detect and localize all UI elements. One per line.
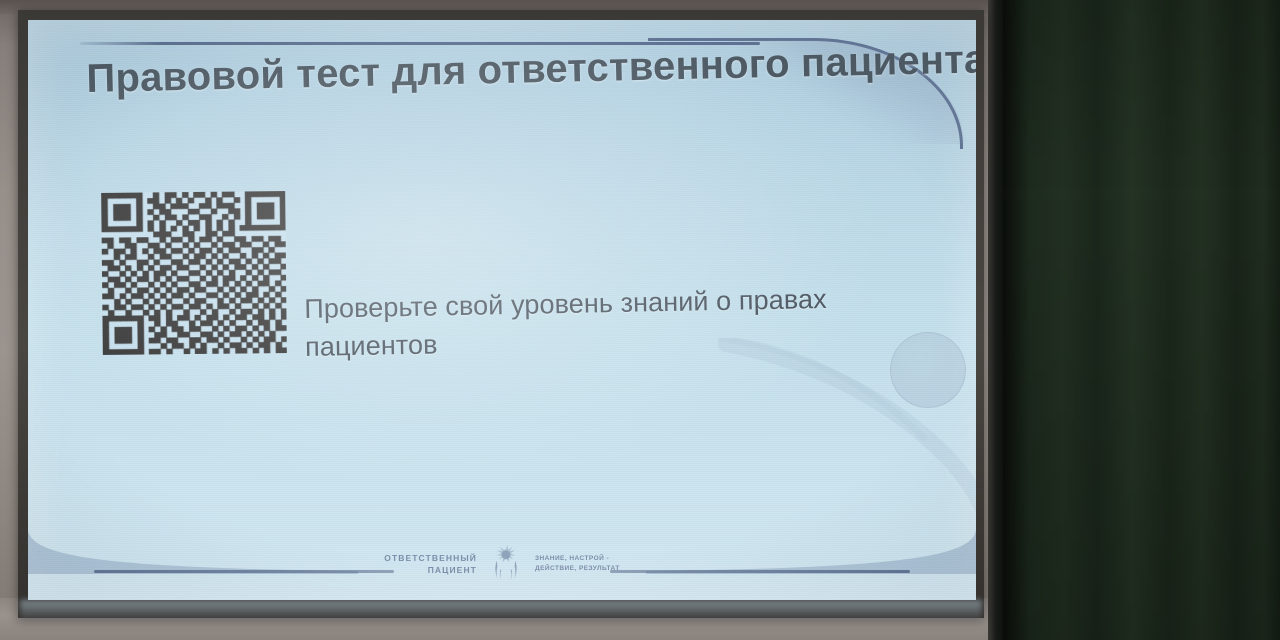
dark-green-curtain bbox=[1002, 0, 1280, 640]
screen-light-spill bbox=[20, 600, 982, 622]
qr-code[interactable] bbox=[101, 191, 287, 355]
photo-scene: Правовой тест для ответственного пациент… bbox=[0, 0, 1280, 640]
projection-screen: Правовой тест для ответственного пациент… bbox=[28, 20, 976, 600]
footer-brand-block: ОТВЕТСТВЕННЫЙ ПАЦИЕНТ ЗНАНИЕ, НАСТРОЙ - … bbox=[28, 544, 976, 584]
qr-code-canvas[interactable] bbox=[101, 191, 287, 355]
brand-name-text: ОТВЕТСТВЕННЫЙ ПАЦИЕНТ bbox=[384, 552, 477, 577]
responsible-patient-logo-icon bbox=[486, 544, 526, 584]
presentation-slide: Правовой тест для ответственного пациент… bbox=[28, 20, 976, 600]
brand-tagline-text: ЗНАНИЕ, НАСТРОЙ - ДЕЙСТВИЕ, РЕЗУЛЬТАТ bbox=[535, 554, 620, 574]
slide-footer: ОТВЕТСТВЕННЫЙ ПАЦИЕНТ ЗНАНИЕ, НАСТРОЙ - … bbox=[28, 526, 976, 600]
